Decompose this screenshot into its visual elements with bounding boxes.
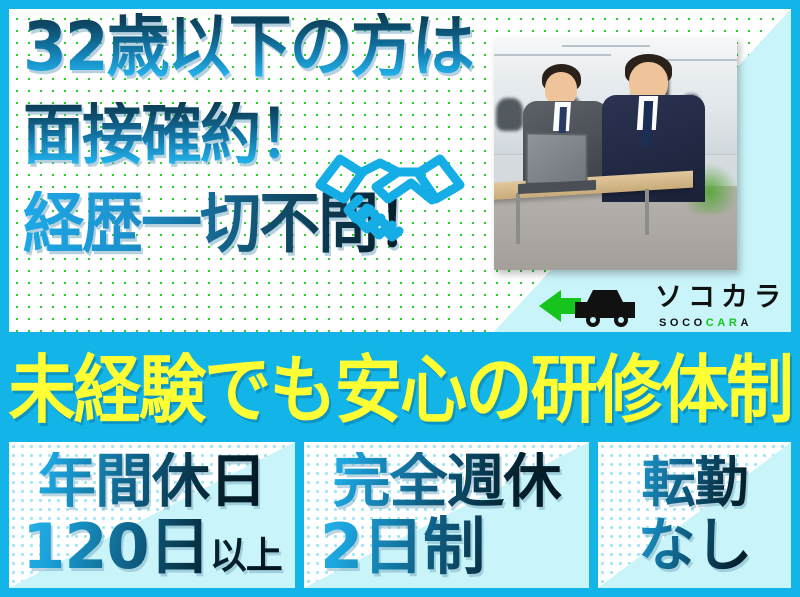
logo-roman-soco: SOCO xyxy=(659,317,706,329)
benefit-line-2: 2日制 xyxy=(304,515,589,578)
logo-kana: ソコカラ xyxy=(655,284,787,311)
benefit-line-1: 年間休日 xyxy=(9,452,295,511)
training-banner-text: 未経験でも安心の研修体制 xyxy=(8,335,791,433)
benefit-suffix: 以上 xyxy=(210,534,282,577)
logo-roman-car: CAR xyxy=(706,317,741,329)
logo-roman-a: A xyxy=(740,317,752,329)
benefit-line-2: なし xyxy=(598,516,791,575)
benefit-line-2: 120日以上 xyxy=(9,515,295,578)
benefit-value: 120日 xyxy=(22,510,209,583)
benefit-box-no-relocation: 転勤 なし xyxy=(598,442,791,588)
benefit-line-1: 完全週休 xyxy=(304,452,589,511)
car-with-left-arrow-icon xyxy=(537,284,643,328)
benefit-box-two-days-off: 完全週休 2日制 xyxy=(304,442,589,588)
handshake-icon xyxy=(314,141,466,245)
top-panel: 32歳以下の方は 面接確約！ 経歴一切不問！ xyxy=(9,9,791,332)
job-ad-banner: 32歳以下の方は 面接確約！ 経歴一切不問！ xyxy=(0,0,800,597)
company-logo: ソコカラ SOCOCARA xyxy=(537,277,787,332)
logo-roman: SOCOCARA xyxy=(659,318,787,329)
training-banner: 未経験でも安心の研修体制 xyxy=(0,335,800,433)
benefit-box-annual-holidays: 年間休日 120日以上 xyxy=(9,442,295,588)
office-photo xyxy=(494,38,737,270)
headline-line-1: 32歳以下の方は xyxy=(23,13,493,83)
benefit-boxes: 年間休日 120日以上 完全週休 2日制 転勤 なし xyxy=(0,433,800,597)
benefit-line-1: 転勤 xyxy=(598,455,791,510)
